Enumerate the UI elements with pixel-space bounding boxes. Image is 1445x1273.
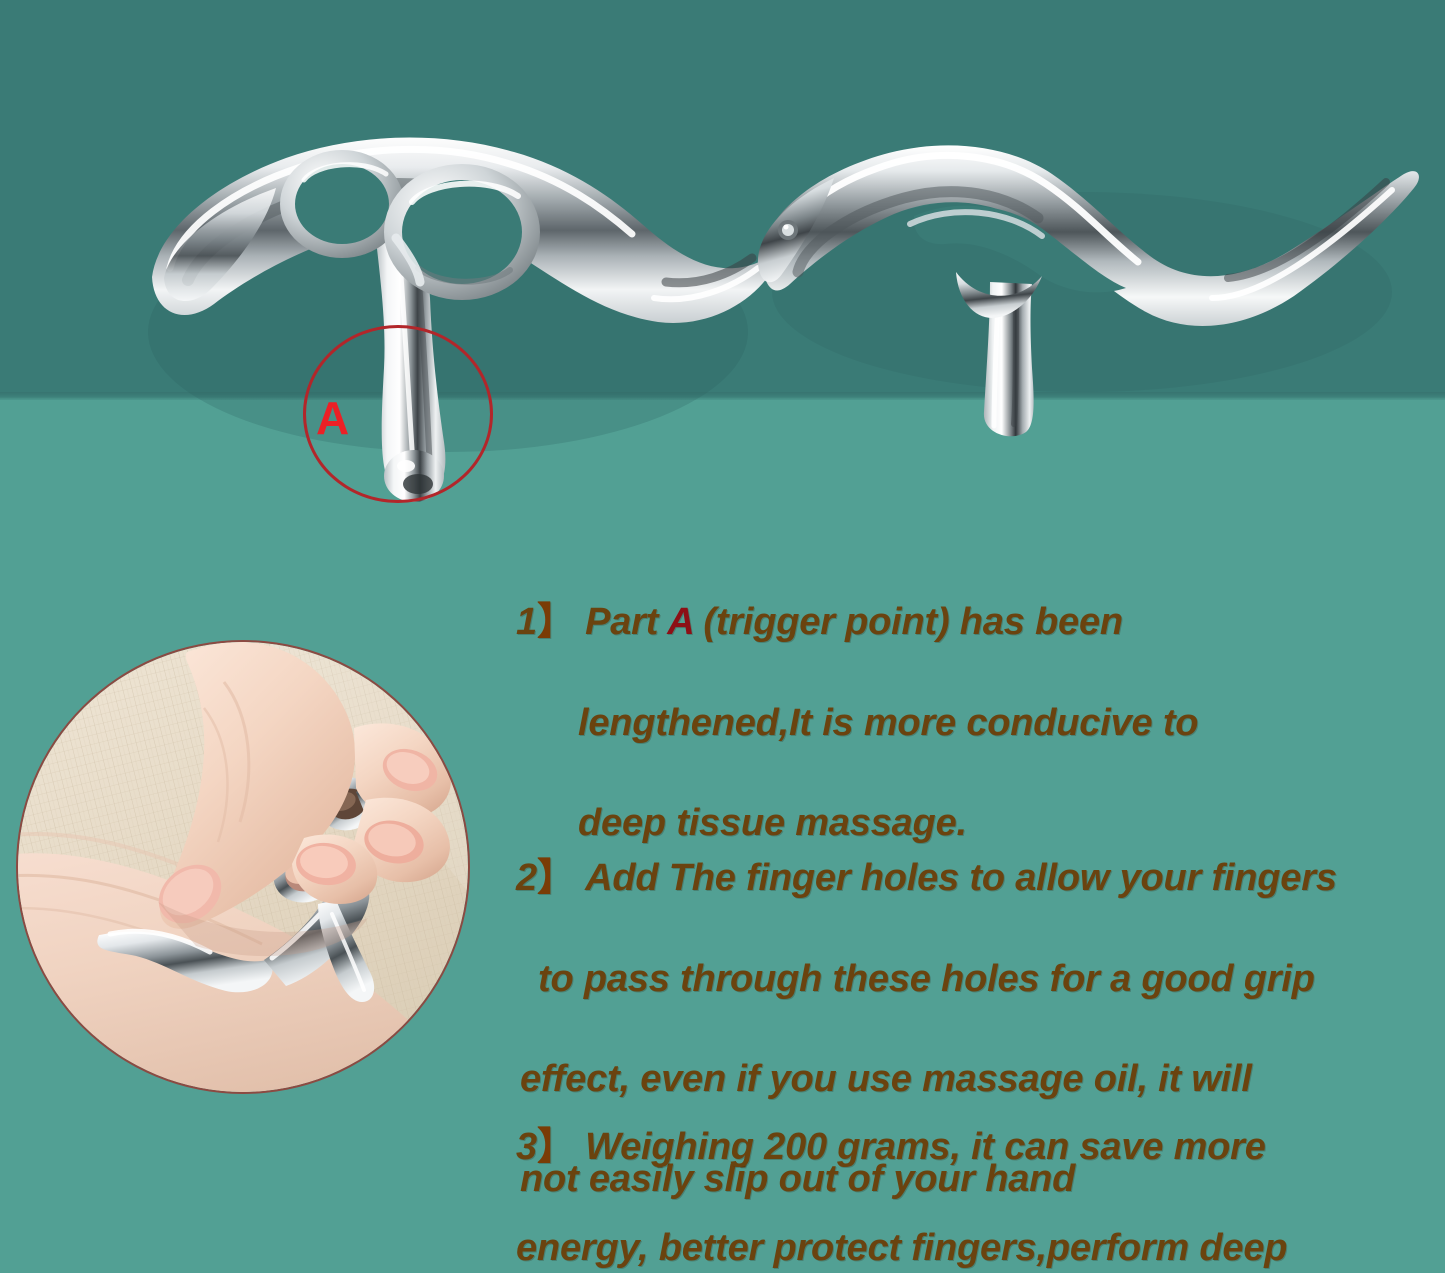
feature-3-line-1: Weighing 200 grams, it can save more: [575, 1126, 1266, 1168]
feature-1-line-1-pre: Part: [575, 601, 667, 643]
feature-1-highlight-a: A: [667, 601, 693, 643]
feature-2-bracket: 】: [537, 857, 575, 899]
feature-3-line-2: energy, better protect fingers,perform d…: [516, 1223, 1422, 1273]
feature-2-line-1: Add The finger holes to allow your finge…: [575, 857, 1337, 899]
product-infographic-poster: A: [0, 0, 1445, 1273]
hand-grip-demonstration-photo: [18, 642, 468, 1092]
feature-2-number: 2: [516, 857, 537, 899]
feature-1-number: 1: [516, 601, 537, 643]
feature-1-line-2: lengthened,It is more conducive to: [516, 698, 1422, 748]
feature-3-number: 3: [516, 1126, 537, 1168]
feature-item-3: 3】 Weighing 200 grams, it can save more …: [516, 1022, 1422, 1273]
massage-tool-angled-view: [742, 112, 1422, 442]
feature-1-line-1-post: (trigger point) has been: [693, 601, 1123, 643]
feature-2-line-2: to pass through these holes for a good g…: [516, 954, 1422, 1004]
feature-1-bracket: 】: [537, 601, 575, 643]
annotation-label-a: A: [316, 395, 349, 441]
feature-3-bracket: 】: [537, 1126, 575, 1168]
massage-tool-front-view: [118, 92, 778, 512]
